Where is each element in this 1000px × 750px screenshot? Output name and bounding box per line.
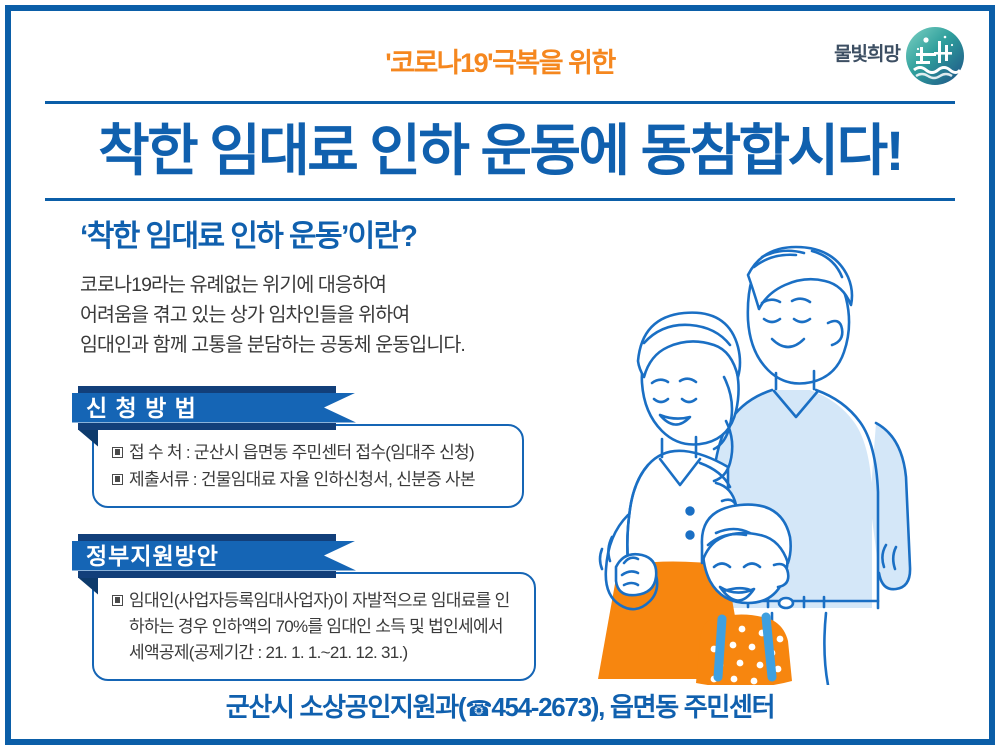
square-bullet-icon: [112, 474, 123, 485]
telephone-icon: ☎: [465, 696, 491, 721]
application-item-1: 접 수 처 : 군산시 읍면동 주민센터 접수(임대주 신청): [129, 440, 474, 466]
ribbon-banner-application: 신 청 방 법: [72, 386, 362, 432]
intro-line-3: 임대인과 함께 고통을 분담하는 공동체 운동입니다.: [80, 330, 582, 360]
ribbon-top-bar: [78, 534, 336, 541]
divider-bottom: [45, 198, 955, 201]
ribbon-top-bar: [78, 386, 336, 393]
footer-phone-number: 454-2673: [491, 692, 590, 722]
ribbon-bottom-bar: [78, 571, 336, 578]
ribbon-label-application: 신 청 방 법: [86, 393, 197, 423]
panel-government-support: 임대인(사업자등록임대사업자)이 자발적으로 임대료를 인하하는 경우 인하액의…: [92, 572, 536, 681]
list-item: 임대인(사업자등록임대사업자)이 자발적으로 임대료를 인하하는 경우 인하액의…: [112, 588, 518, 666]
ribbon-bottom-bar: [78, 423, 336, 430]
support-item-1: 임대인(사업자등록임대사업자)이 자발적으로 임대료를 인하하는 경우 인하액의…: [129, 588, 518, 666]
list-item: 접 수 처 : 군산시 읍면동 주민센터 접수(임대주 신청): [112, 440, 506, 466]
divider-top: [45, 101, 955, 104]
footer-prefix: 군산시 소상공인지원과(: [226, 692, 465, 722]
square-bullet-icon: [112, 447, 123, 458]
list-item: 제출서류 : 건물임대료 자율 인하신청서, 신분증 사본: [112, 467, 506, 493]
footer-contact: 군산시 소상공인지원과(☎454-2673), 읍면동 주민센터: [0, 694, 1000, 720]
ribbon-label-support: 정부지원방안: [86, 541, 219, 571]
ribbon-banner-support: 정부지원방안: [72, 534, 362, 580]
section-government-support: 정부지원방안 임대인(사업자등록임대사업자)이 자발적으로 임대료를 인하하는 …: [72, 534, 582, 681]
intro-line-1: 코로나19라는 유례없는 위기에 대응하여: [80, 270, 582, 300]
poster-root: 물빛희망: [0, 0, 1000, 750]
page-title: 착한 임대료 인하 운동에 동참합시다!: [0, 108, 1000, 194]
family-illustration: [576, 215, 986, 685]
footer-suffix: ), 읍면동 주민센터: [591, 692, 774, 722]
section-application-method: 신 청 방 법 접 수 처 : 군산시 읍면동 주민센터 접수(임대주 신청) …: [72, 386, 582, 508]
intro-line-2: 어려움을 겪고 있는 상가 임차인들을 위하여: [80, 300, 582, 330]
content-column: ‘착한 임대료 인하 운동’이란? 코로나19라는 유례없는 위기에 대응하여 …: [72, 218, 582, 681]
panel-application-method: 접 수 처 : 군산시 읍면동 주민센터 접수(임대주 신청) 제출서류 : 건…: [92, 424, 524, 508]
intro-heading: ‘착한 임대료 인하 운동’이란?: [80, 218, 582, 256]
application-item-2: 제출서류 : 건물임대료 자율 인하신청서, 신분증 사본: [129, 467, 475, 493]
intro-paragraph: 코로나19라는 유례없는 위기에 대응하여 어려움을 겪고 있는 상가 임차인들…: [80, 270, 582, 360]
poster-subtitle: '코로나19'극복을 위한: [0, 50, 1000, 77]
square-bullet-icon: [112, 595, 123, 606]
